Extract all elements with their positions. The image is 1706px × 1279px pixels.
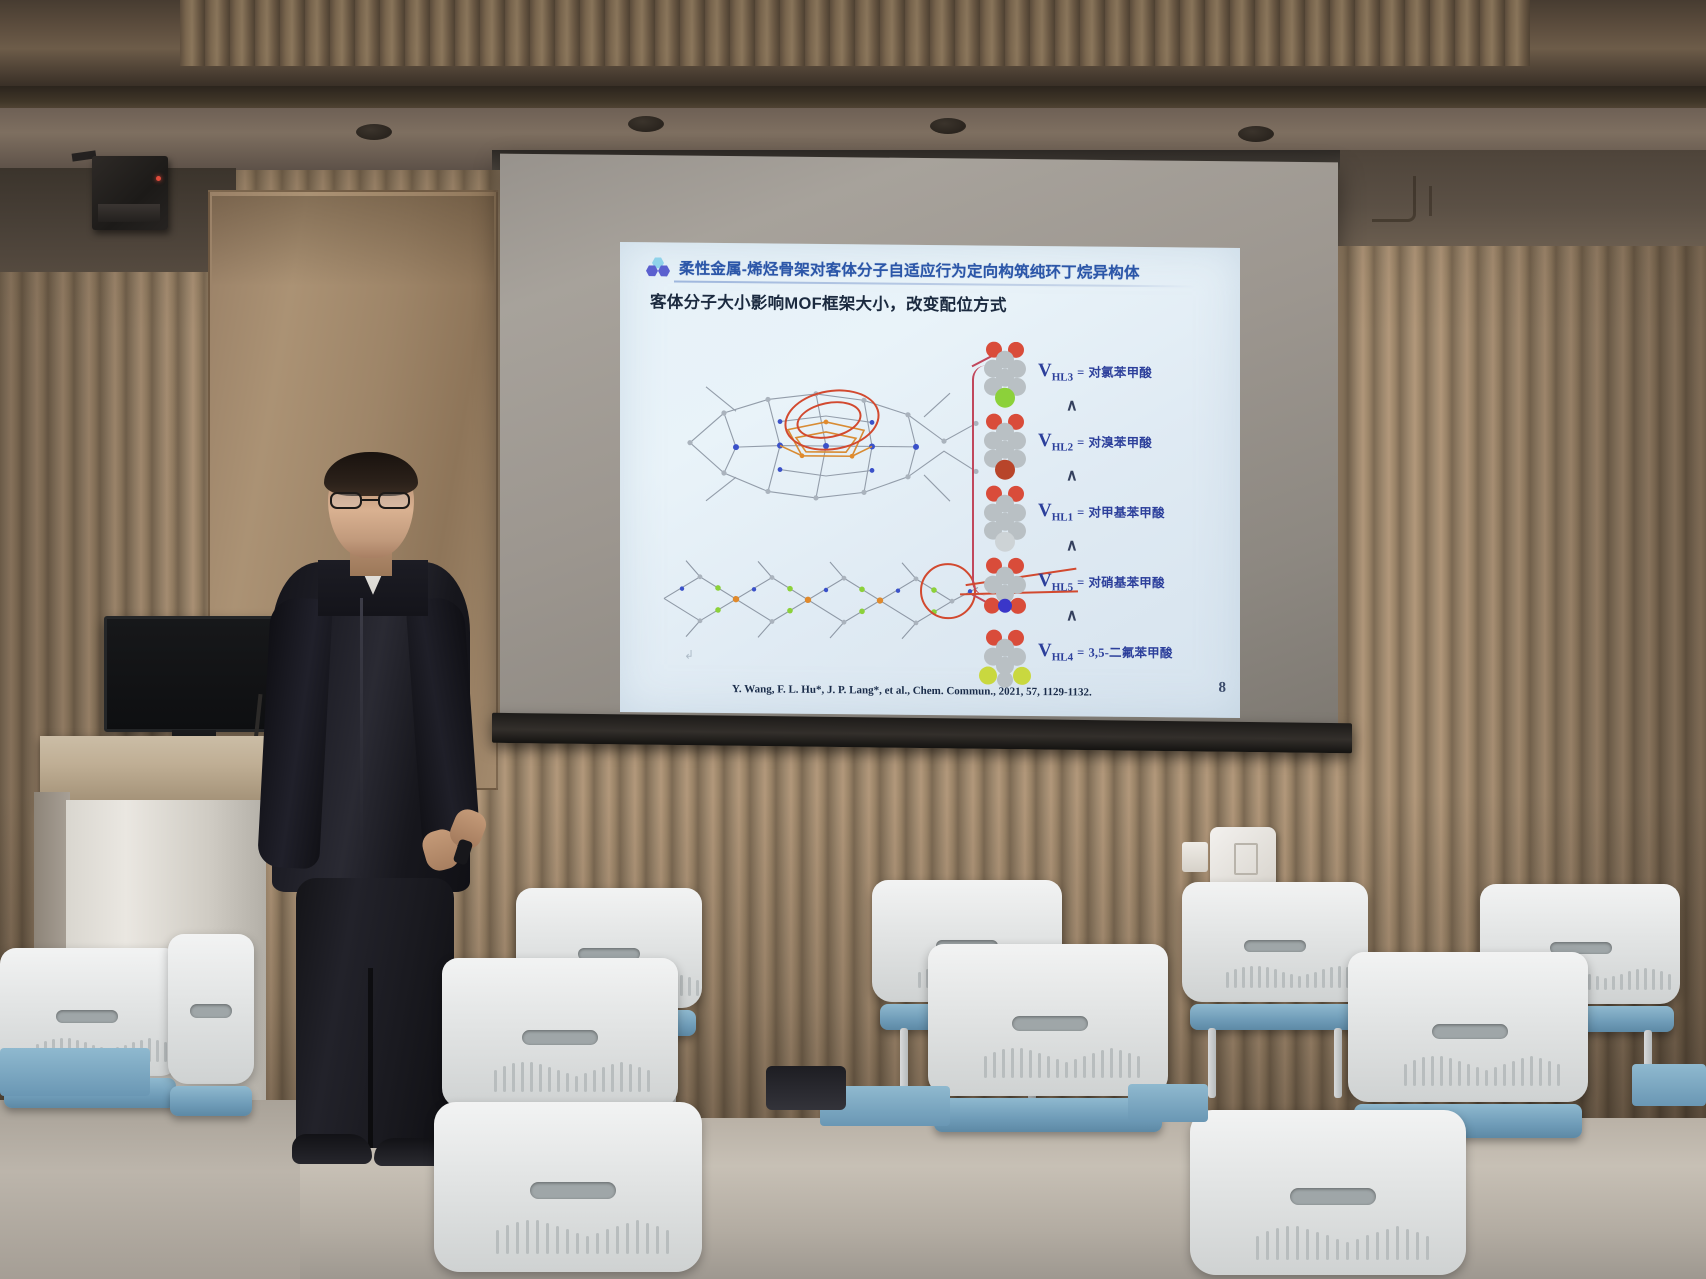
ligand-symbol: V <box>1038 500 1052 521</box>
chair[interactable] <box>168 934 254 1279</box>
ligand-equation-row: VHL3 = 对氯苯甲酸 <box>1038 360 1238 379</box>
floor-object <box>766 1066 846 1110</box>
ligand-equation-row: VHL2 = 对溴苯甲酸 <box>1038 430 1238 449</box>
slide-watermark: ↲ <box>684 648 694 663</box>
ligand-name: 对氯苯甲酸 <box>1088 366 1152 381</box>
ligand-equals: = <box>1077 505 1084 519</box>
mof-framework-top-figure <box>676 351 1006 539</box>
slide-citation: Y. Wang, F. L. Hu*, J. P. Lang*, et al.,… <box>732 683 1092 698</box>
comparator-symbol: ∧ <box>1066 465 1240 484</box>
lectern-top <box>40 736 292 808</box>
ligand-name: 3,5-二氟苯甲酸 <box>1088 646 1172 661</box>
ligand-symbol: V <box>1038 640 1052 661</box>
ligand-model-5 <box>979 629 1031 687</box>
wall-power-outlet[interactable] <box>1182 842 1208 872</box>
ligand-name: 对溴苯甲酸 <box>1088 436 1152 451</box>
wall-panel-left-shadow <box>212 196 494 286</box>
ligand-model-2 <box>984 414 1026 480</box>
presentation-slide: 柔性金属-烯烃骨架对客体分子自适应行为定向构筑纯环丁烷异构体 客体分子大小影响M… <box>620 242 1240 718</box>
wall-speaker <box>92 156 168 230</box>
slide-number: 8 <box>1219 680 1227 697</box>
ligand-model-column <box>972 341 1046 682</box>
speaker-led-icon <box>156 176 161 181</box>
ligand-equation-row: VHL5 = 对硝基苯甲酸 <box>1038 570 1238 589</box>
presenter-glasses <box>330 492 410 509</box>
ligand-model-3 <box>984 486 1026 552</box>
lecture-hall-scene: 柔性金属-烯烃骨架对客体分子自适应行为定向构筑纯环丁烷异构体 客体分子大小影响M… <box>0 0 1706 1279</box>
presenter-left-shoe <box>292 1134 372 1164</box>
chair[interactable] <box>434 1102 702 1279</box>
hexagon-cluster-icon <box>646 257 672 277</box>
seat-cushion <box>0 1048 150 1096</box>
presenter-hair <box>324 452 418 496</box>
ligand-equation-row: VHL4 = 3,5-二氟苯甲酸 <box>1038 640 1238 659</box>
wall-bracket-secondary <box>1406 186 1432 216</box>
ligand-equals: = <box>1077 645 1084 659</box>
comparator-symbol: ∧ <box>1066 535 1240 554</box>
ligand-symbol: V <box>1038 430 1052 451</box>
ceiling-downlight <box>930 118 966 134</box>
presenter-trousers <box>296 878 454 1148</box>
ceiling-downlight <box>356 124 392 140</box>
chair[interactable] <box>1190 1110 1466 1279</box>
ligand-subscript: HL3 <box>1052 371 1073 383</box>
comparator-symbol: ∧ <box>1066 605 1240 624</box>
ligand-equation-list: VHL3 = 对氯苯甲酸 ∧ VHL2 = 对溴苯甲酸 ∧ VHL1 = 对甲基… <box>1038 342 1238 497</box>
ligand-subscript: HL4 <box>1052 651 1073 663</box>
ligand-equation-row: VHL1 = 对甲基苯甲酸 <box>1038 500 1238 519</box>
ligand-subscript: HL5 <box>1052 581 1073 593</box>
slide-subtitle: 客体分子大小影响MOF框架大小，改变配位方式 <box>650 288 1007 315</box>
ligand-name: 对甲基苯甲酸 <box>1088 506 1164 521</box>
wifi-access-point <box>1210 827 1276 889</box>
ceiling-downlight <box>1238 126 1274 142</box>
ligand-subscript: HL1 <box>1052 511 1073 523</box>
comparator-symbol: ∧ <box>1066 395 1240 414</box>
wall-panel-upper-right <box>1310 150 1706 246</box>
chair[interactable] <box>0 948 180 1278</box>
ligand-equals: = <box>1077 435 1084 449</box>
seat-cushion <box>1128 1084 1208 1122</box>
ligand-equals: = <box>1077 575 1084 589</box>
ceiling-slat-texture <box>180 0 1530 66</box>
ceiling-downlight <box>628 116 664 132</box>
ligand-model-4 <box>984 558 1026 614</box>
presenter-jacket-zipper <box>360 598 363 876</box>
chair[interactable] <box>1182 882 1368 1112</box>
slide-title: 柔性金属-烯烃骨架对客体分子自适应行为定向构筑纯环丁烷异构体 <box>679 257 1140 283</box>
ligand-symbol: V <box>1038 360 1052 381</box>
presenter-leg-separation <box>368 968 373 1148</box>
ligand-models-svg <box>972 341 1046 692</box>
highlight-circle <box>920 563 976 620</box>
ligand-name: 对硝基苯甲酸 <box>1088 576 1164 591</box>
confidence-monitor <box>104 616 280 732</box>
ligand-symbol: V <box>1038 570 1052 591</box>
ligand-model-1 <box>984 342 1026 408</box>
ligand-equals: = <box>1077 365 1084 379</box>
seat-cushion <box>1632 1064 1706 1106</box>
ligand-subscript: HL2 <box>1052 441 1073 453</box>
